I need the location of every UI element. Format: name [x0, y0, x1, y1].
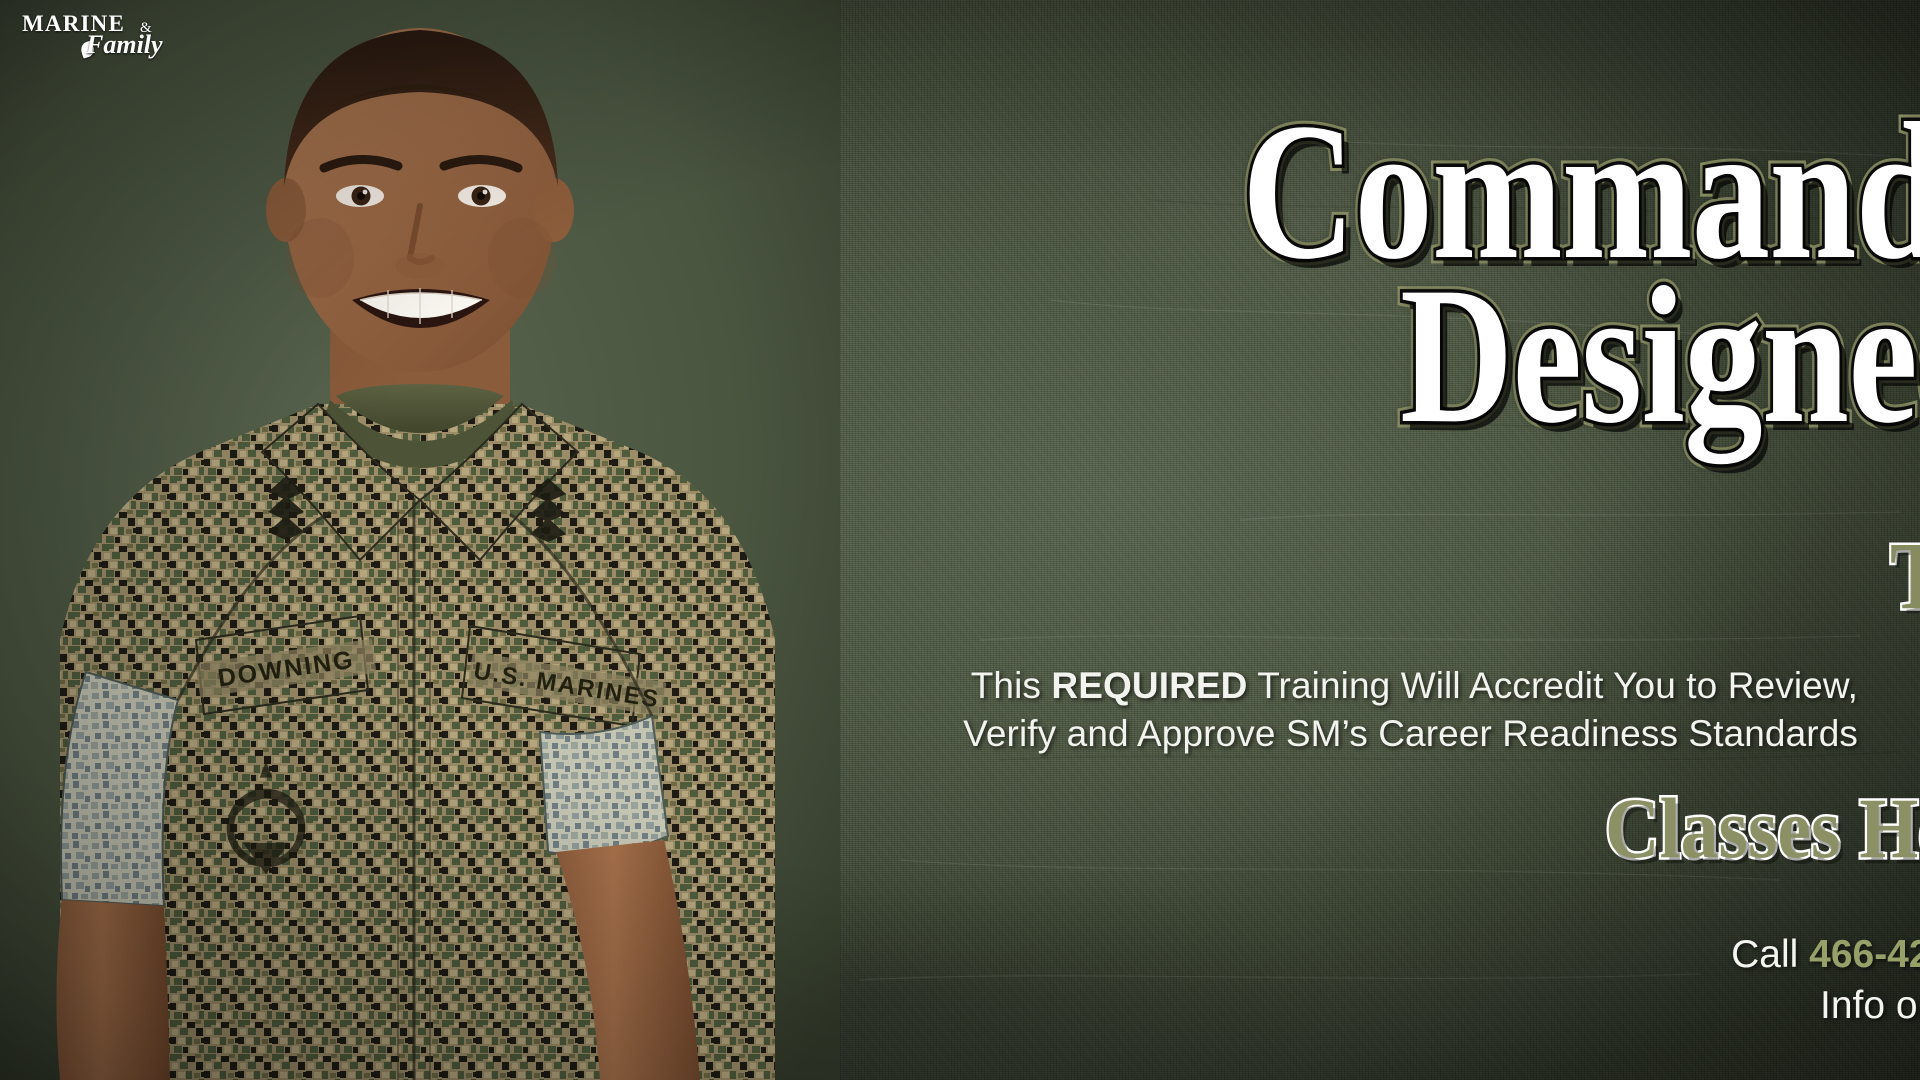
headline-subtitle-training: Training — [1890, 530, 1920, 621]
phone-number[interactable]: 466-4201 — [1809, 933, 1920, 976]
headline-line-2-text: Designee — [1400, 247, 1920, 464]
content-column: Commander’s Commander’s Designee Designe… — [600, 0, 1920, 1080]
description-text: This REQUIRED Training Will Accredit You… — [898, 662, 1858, 758]
description-before: This — [971, 665, 1052, 706]
headline-line-2: Designee Designee — [1400, 272, 1920, 441]
classes-held-monthly-banner: Classes Held Monthly — [1605, 785, 1920, 871]
logo-word-family: Family — [86, 32, 163, 58]
marine-and-family-logo: MARINE & Family — [14, 8, 204, 70]
call-to-action: Call 466-4201 for More Info or to Regist… — [1700, 930, 1920, 1031]
description-emphasis: REQUIRED — [1051, 665, 1247, 706]
call-prefix: Call — [1731, 933, 1809, 976]
poster-canvas: DOWNING U.S. MARINES — [0, 0, 1920, 1080]
